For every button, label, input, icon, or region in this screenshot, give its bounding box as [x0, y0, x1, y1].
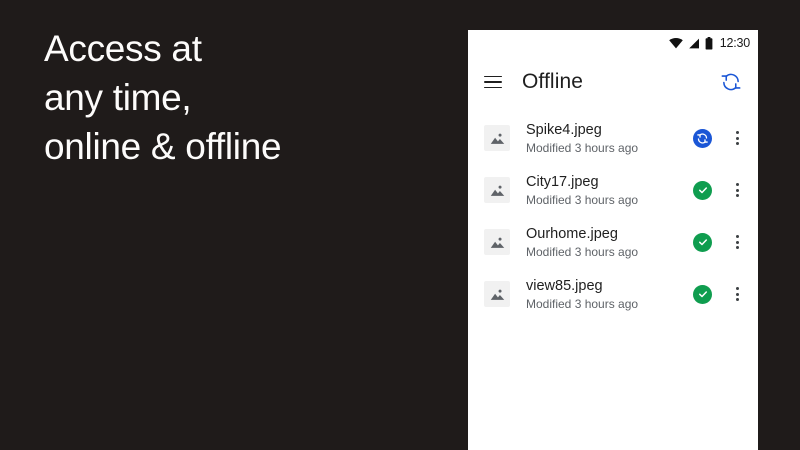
file-name: view85.jpeg: [526, 277, 693, 295]
battery-icon: [705, 37, 713, 50]
more-vertical-icon[interactable]: [726, 175, 748, 205]
check-circle-icon[interactable]: [693, 233, 712, 252]
table-row[interactable]: view85.jpeg Modified 3 hours ago: [468, 268, 758, 320]
sync-in-progress-icon[interactable]: [693, 129, 712, 148]
status-bar-time: 12:30: [720, 36, 750, 50]
file-text: Spike4.jpeg Modified 3 hours ago: [526, 121, 693, 156]
promo-headline-line-1: Access at: [44, 24, 444, 73]
image-placeholder-icon: [484, 125, 510, 151]
file-text: Ourhome.jpeg Modified 3 hours ago: [526, 225, 693, 260]
check-circle-icon[interactable]: [693, 181, 712, 200]
table-row[interactable]: Ourhome.jpeg Modified 3 hours ago: [468, 216, 758, 268]
table-row[interactable]: City17.jpeg Modified 3 hours ago: [468, 164, 758, 216]
more-vertical-icon[interactable]: [726, 279, 748, 309]
promo-screenshot: Access at any time, online & offline: [0, 0, 800, 450]
file-text: view85.jpeg Modified 3 hours ago: [526, 277, 693, 312]
file-name: Spike4.jpeg: [526, 121, 693, 139]
more-vertical-icon[interactable]: [726, 123, 748, 153]
promo-headline-line-2: any time,: [44, 73, 444, 122]
status-bar: 12:30: [468, 30, 758, 56]
phone-screen: 12:30 Offline: [468, 30, 758, 450]
file-name: Ourhome.jpeg: [526, 225, 693, 243]
file-name: City17.jpeg: [526, 173, 693, 191]
file-modified: Modified 3 hours ago: [526, 140, 693, 156]
signal-icon: [688, 38, 700, 49]
image-placeholder-icon: [484, 281, 510, 307]
file-list: Spike4.jpeg Modified 3 hours ago: [468, 108, 758, 320]
check-circle-icon[interactable]: [693, 285, 712, 304]
hamburger-menu-icon[interactable]: [484, 76, 502, 89]
file-modified: Modified 3 hours ago: [526, 192, 693, 208]
promo-headline: Access at any time, online & offline: [44, 24, 444, 171]
status-bar-icons: 12:30: [669, 30, 750, 56]
image-placeholder-icon: [484, 229, 510, 255]
file-modified: Modified 3 hours ago: [526, 244, 693, 260]
sync-refresh-icon[interactable]: [718, 69, 744, 95]
promo-headline-line-3: online & offline: [44, 122, 444, 171]
image-placeholder-icon: [484, 177, 510, 203]
file-modified: Modified 3 hours ago: [526, 296, 693, 312]
app-bar-title: Offline: [522, 70, 583, 94]
wifi-icon: [669, 38, 683, 49]
more-vertical-icon[interactable]: [726, 227, 748, 257]
app-bar: Offline: [468, 56, 758, 108]
table-row[interactable]: Spike4.jpeg Modified 3 hours ago: [468, 112, 758, 164]
file-text: City17.jpeg Modified 3 hours ago: [526, 173, 693, 208]
